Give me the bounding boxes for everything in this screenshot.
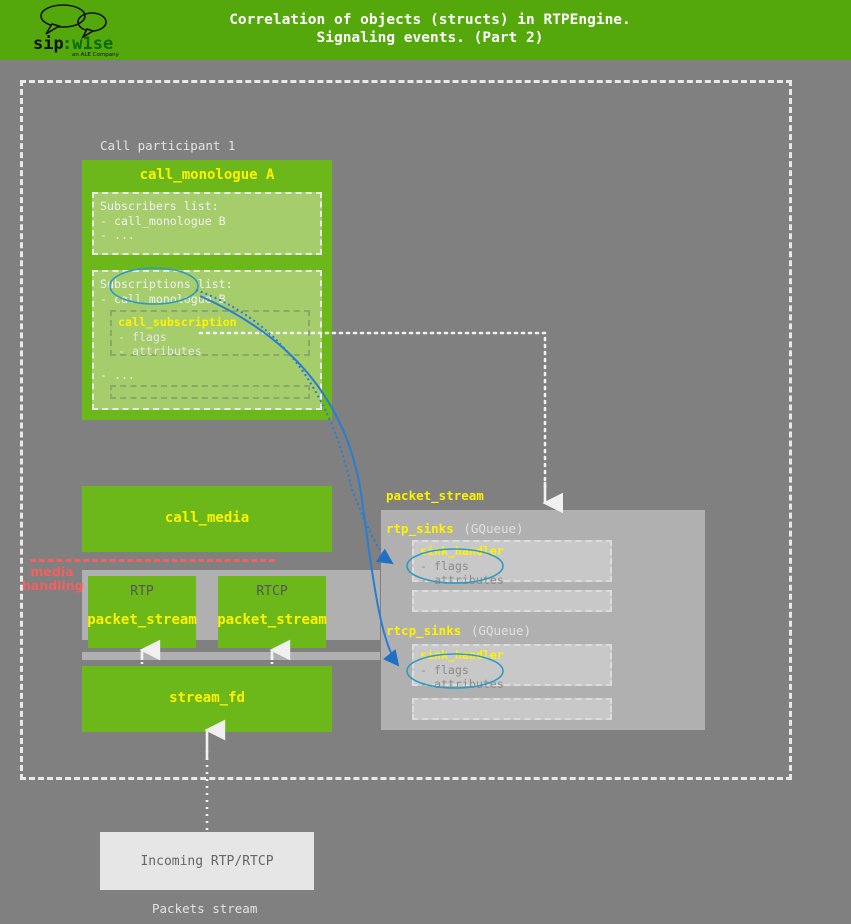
subscriptions-item-0: - call monologue B bbox=[100, 292, 314, 307]
incoming-rtp-label: Incoming RTP/RTCP bbox=[140, 854, 273, 869]
media-handling-line-1: media bbox=[22, 565, 82, 579]
subscribers-item-1: - ... bbox=[100, 228, 314, 243]
svg-text:sip: sip bbox=[33, 34, 64, 54]
rtcp-sink-handler-0-attributes: - attributes bbox=[420, 677, 604, 692]
rtp-sink-handler-0: sink_handler - flags - attributes bbox=[412, 540, 612, 582]
rtcp-sink-handler-0: sink_handler - flags - attributes bbox=[412, 644, 612, 686]
rtp-sinks-header: rtp_sinks (GQueue) bbox=[386, 518, 524, 537]
rtp-sink-handler-0-attributes: - attributes bbox=[420, 573, 604, 588]
stream-fd-label: stream_fd bbox=[82, 690, 332, 706]
packet-stream-title: packet_stream bbox=[386, 488, 484, 503]
rtcp-sinks-name: rtcp_sinks bbox=[386, 623, 461, 638]
title-line-1: Correlation of objects (structs) in RTPE… bbox=[150, 11, 710, 29]
incoming-rtp-box: Incoming RTP/RTCP bbox=[100, 832, 314, 890]
subscriptions-item-1: - ... bbox=[100, 368, 314, 383]
call-subscription-field-attributes: - attributes bbox=[118, 344, 302, 359]
rtp-sinks-type: (GQueue) bbox=[463, 521, 523, 536]
call-monologue-suffix: A bbox=[258, 167, 275, 183]
rtcp-struct-label: packet_stream bbox=[206, 612, 338, 628]
sipwise-logo: sip :w1se an ALE Company bbox=[30, 3, 130, 57]
rtcp-sinks-type: (GQueue) bbox=[471, 623, 531, 638]
media-handling-label: media handling bbox=[22, 565, 82, 593]
call-subscription-field-flags: - flags bbox=[118, 330, 302, 345]
app-header: sip :w1se an ALE Company Correlation of … bbox=[0, 0, 851, 60]
rtp-sink-handler-0-flags: - flags bbox=[420, 559, 604, 574]
packets-stream-label: Packets stream bbox=[152, 901, 257, 916]
rtcp-sink-handler-0-title: sink_handler bbox=[420, 648, 604, 663]
rtp-sinks-name: rtp_sinks bbox=[386, 521, 454, 536]
rtcp-kind-label: RTCP bbox=[218, 584, 326, 599]
title-line-2: Signaling events. (Part 2) bbox=[150, 29, 710, 47]
call-monologue-struct-name: call_monologue bbox=[140, 167, 258, 183]
rtp-sink-handler-0-title: sink_handler bbox=[420, 544, 604, 559]
subscriptions-heading: Subscriptions list: bbox=[100, 277, 314, 292]
subscriptions-list-box: Subscriptions list: - call monologue B c… bbox=[92, 270, 322, 410]
diagram-canvas: Call participant 1 call_monologue A Subs… bbox=[0, 60, 851, 924]
media-handling-divider bbox=[30, 559, 275, 562]
call-participant-label: Call participant 1 bbox=[100, 138, 235, 153]
rtp-sink-handler-1 bbox=[412, 590, 612, 612]
rtp-struct-label: packet_stream bbox=[76, 612, 208, 628]
svg-text:an ALE Company: an ALE Company bbox=[72, 52, 120, 57]
subscribers-heading: Subscribers list: bbox=[100, 199, 314, 214]
rtcp-packet-stream-box: RTCP packet_stream bbox=[218, 576, 326, 648]
rtp-packet-stream-box: RTP packet_stream bbox=[88, 576, 196, 648]
page-title: Correlation of objects (structs) in RTPE… bbox=[150, 11, 710, 47]
stream-fd-box: stream_fd bbox=[82, 666, 332, 732]
call-media-label: call_media bbox=[82, 510, 332, 526]
call-monologue-box: call_monologue A Subscribers list: - cal… bbox=[82, 160, 332, 420]
rtcp-sink-handler-0-flags: - flags bbox=[420, 663, 604, 678]
rtp-kind-label: RTP bbox=[88, 584, 196, 599]
subscribers-item-0: - call_monologue B bbox=[100, 214, 314, 229]
call-subscription-box-placeholder bbox=[110, 385, 310, 399]
svg-text::w1se: :w1se bbox=[62, 34, 113, 54]
media-handling-line-2: handling bbox=[22, 579, 82, 593]
call-subscription-box: call_subscription - flags - attributes bbox=[110, 310, 310, 356]
rtcp-sinks-header: rtcp_sinks (GQueue) bbox=[386, 620, 531, 639]
subscribers-list-box: Subscribers list: - call_monologue B - .… bbox=[92, 192, 322, 255]
call-media-box: call_media bbox=[82, 486, 332, 552]
rtcp-sink-handler-1 bbox=[412, 698, 612, 720]
packet-stream-panel: rtp_sinks (GQueue) sink_handler - flags … bbox=[381, 510, 705, 730]
call-subscription-title: call_subscription bbox=[118, 315, 302, 330]
call-monologue-title: call_monologue A bbox=[82, 167, 332, 183]
